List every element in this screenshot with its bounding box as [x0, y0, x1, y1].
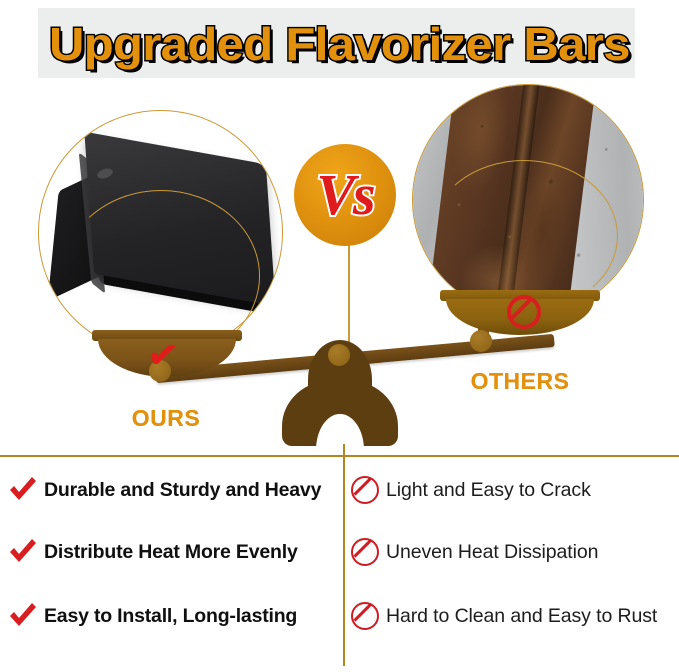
prohibition-icon — [351, 476, 379, 504]
list-item-label: Distribute Heat More Evenly — [44, 541, 298, 564]
others-prohibition-icon — [507, 295, 541, 329]
ours-label: OURS — [106, 405, 226, 432]
list-item: Hard to Clean and Easy to Rust — [351, 593, 679, 639]
list-item: Durable and Sturdy and Heavy — [8, 467, 343, 513]
check-icon — [8, 475, 38, 505]
feature-comparison-lists: Durable and Sturdy and Heavy Distribute … — [0, 457, 679, 672]
right-pivot-knob — [470, 330, 492, 352]
list-item: Light and Easy to Crack — [351, 467, 679, 513]
pros-column: Durable and Sturdy and Heavy Distribute … — [0, 457, 343, 672]
list-item: Easy to Install, Long-lasting — [8, 593, 343, 639]
comparison-infographic: Upgraded Flavorizer Bars Upgraded Flavor… — [0, 0, 679, 672]
scale-base — [282, 352, 398, 446]
list-item-label: Uneven Heat Dissipation — [386, 541, 598, 564]
prohibition-icon — [351, 538, 379, 566]
check-icon — [8, 537, 38, 567]
list-item-label: Light and Easy to Crack — [386, 479, 591, 502]
check-icon — [8, 601, 38, 631]
list-item-label: Hard to Clean and Easy to Rust — [386, 605, 657, 628]
list-item: Distribute Heat More Evenly — [8, 529, 343, 575]
vs-badge: Vs Vs — [294, 144, 396, 246]
center-pivot-knob — [328, 344, 350, 366]
list-item: Uneven Heat Dissipation — [351, 529, 679, 575]
others-label: OTHERS — [450, 368, 590, 395]
list-item-label: Durable and Sturdy and Heavy — [44, 479, 321, 502]
list-item-label: Easy to Install, Long-lasting — [44, 605, 297, 628]
ours-check-mark-icon: ✔ — [141, 334, 185, 378]
prohibition-icon — [351, 602, 379, 630]
vs-label: Vs — [294, 144, 396, 246]
cons-column: Light and Easy to Crack Uneven Heat Diss… — [345, 457, 679, 672]
